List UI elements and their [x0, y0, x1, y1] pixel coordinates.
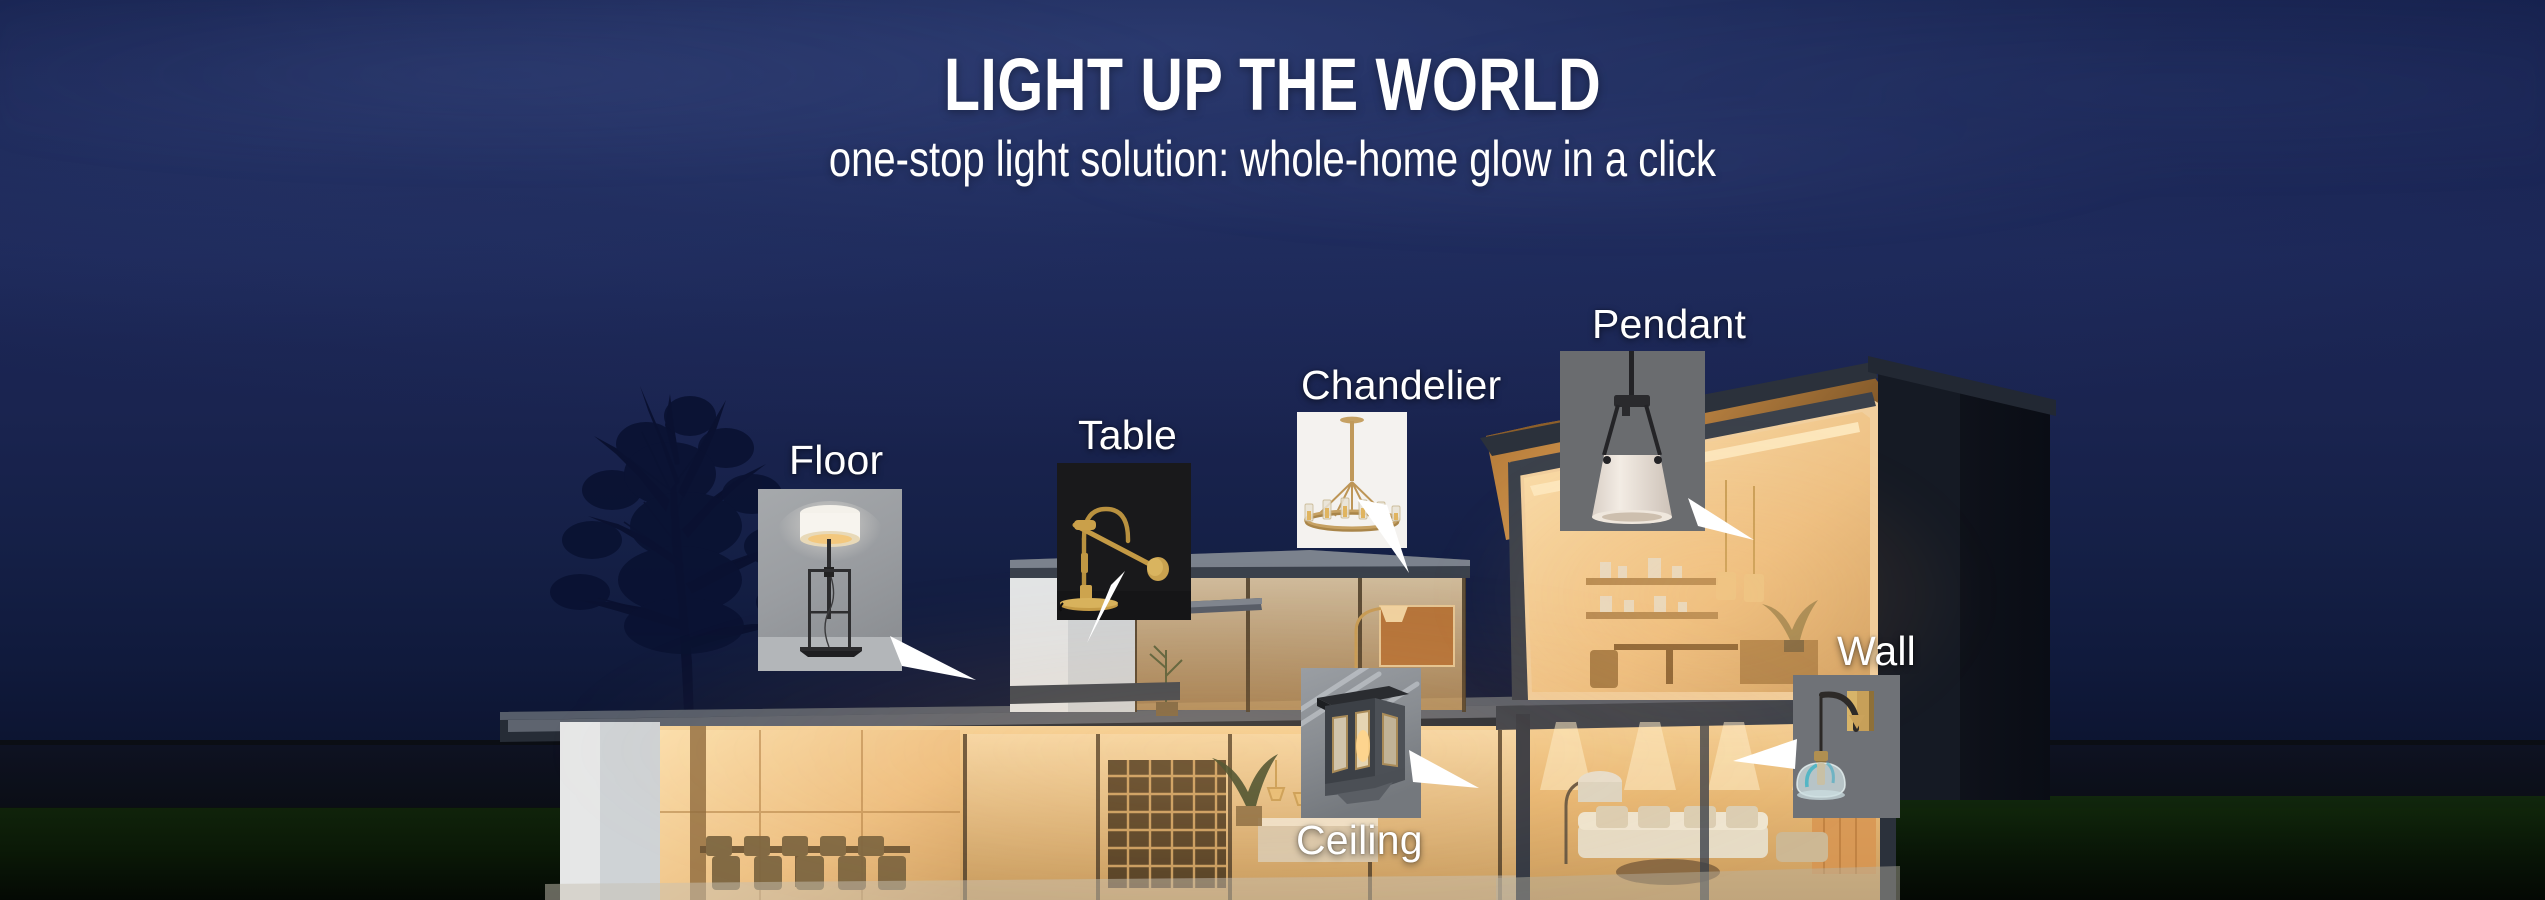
product-thumb-ceiling[interactable] — [1301, 668, 1421, 818]
callout-label-chandelier: Chandelier — [1301, 365, 1501, 406]
callout-label-ceiling: Ceiling — [1296, 820, 1423, 861]
callout-label-pendant: Pendant — [1592, 304, 1746, 345]
product-thumb-pendant[interactable] — [1560, 351, 1705, 531]
product-thumb-table[interactable] — [1057, 463, 1191, 620]
product-thumb-floor[interactable] — [758, 489, 902, 671]
callout-label-wall: Wall — [1837, 631, 1916, 672]
callout-label-floor: Floor — [789, 440, 883, 481]
product-thumb-chandelier[interactable] — [1297, 412, 1407, 548]
product-thumb-wall[interactable] — [1793, 675, 1900, 818]
banner-stage: LIGHT UP THE WORLD one-stop light soluti… — [0, 0, 2545, 900]
house-architecture — [0, 0, 2545, 900]
callout-label-table: Table — [1078, 415, 1177, 456]
